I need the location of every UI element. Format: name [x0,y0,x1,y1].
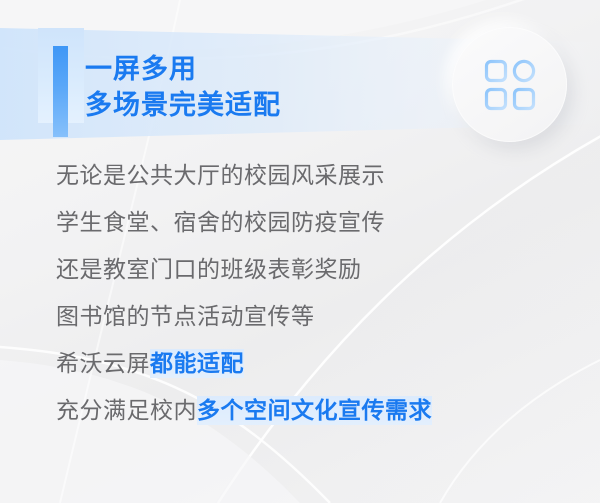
copy-line: 图书馆的节点活动宣传等 [56,293,576,340]
heading-accent-bar [53,46,68,137]
copy-text: 图书馆的节点活动宣传等 [56,303,315,329]
copy-text: 无论是公共大厅的校园风采展示 [56,162,385,188]
copy-line: 无论是公共大厅的校园风采展示 [56,152,576,199]
copy-text: 学生食堂、宿舍的校园防疫宣传 [56,209,385,235]
copy-line: 希沃云屏都能适配 [56,340,576,387]
poster-canvas: 一屏多用 多场景完美适配 无论是公共大厅的校园风采展示 [0,0,600,503]
heading-text: 一屏多用 多场景完美适配 [85,52,281,124]
copy-highlight: 都能适配 [150,349,244,378]
copy-line: 还是教室门口的班级表彰奖励 [56,246,576,293]
copy-line: 学生食堂、宿舍的校园防疫宣传 [56,199,576,246]
heading-line-2: 多场景完美适配 [85,88,281,124]
heading-block: 一屏多用 多场景完美适配 [38,28,378,140]
heading-line-1: 一屏多用 [85,52,281,88]
body-copy: 无论是公共大厅的校园风采展示 学生食堂、宿舍的校园防疫宣传 还是教室门口的班级表… [56,152,576,434]
copy-highlight: 多个空间文化宣传需求 [197,396,432,425]
copy-text: 充分满足校内 [56,397,197,423]
icon-badge-circle [452,27,567,142]
copy-line: 充分满足校内多个空间文化宣传需求 [56,387,576,434]
grid-apps-icon [484,59,536,111]
copy-text: 还是教室门口的班级表彰奖励 [56,256,362,282]
copy-text: 希沃云屏 [56,350,150,376]
